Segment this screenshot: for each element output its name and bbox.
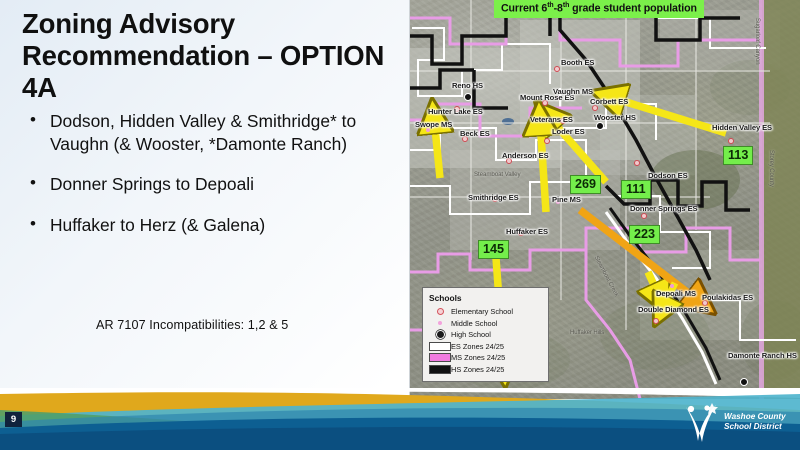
marker-wooster-hs [596, 122, 604, 130]
legend-row-high: High School [429, 329, 542, 341]
label-hunter-lake-es: Hunter Lake ES [428, 108, 483, 116]
slide-footer: 9 Washoe County School District [0, 388, 800, 450]
logo-line-1: Washoe County [724, 412, 786, 422]
marker-veterans-es [544, 138, 550, 144]
label-damonte-ranch-hs: Damonte Ranch HS [728, 352, 780, 360]
elementary-school-icon [429, 308, 451, 315]
zoning-map[interactable]: Current 6th-8th grade student population [409, 0, 800, 399]
footer-swoosh [0, 388, 800, 450]
legend-label-middle: Middle School [451, 319, 497, 328]
callout-223: 223 [629, 225, 660, 244]
bullet-item-1: Dodson, Hidden Valley & Smithridge* to V… [24, 110, 406, 155]
legend-row-hs-zones: HS Zones 24/25 [429, 364, 542, 376]
label-vaughn-ms: Vaughn MS [553, 88, 593, 96]
callout-145: 145 [478, 240, 509, 259]
legend-row-ms-zones: MS Zones 24/25 [429, 352, 542, 364]
wcsd-mark-icon [682, 401, 722, 443]
marker-dodson-es [634, 160, 640, 166]
legend-label-elementary: Elementary School [451, 307, 513, 316]
marker-damonte-ranch-hs [740, 378, 748, 386]
terrain-label-sugarloaf-canyon: Sugarloaf Canyon [754, 18, 760, 64]
legend-row-es-zones: ES Zones 24/25 [429, 341, 542, 353]
legend-row-elementary: Elementary School [429, 306, 542, 318]
footnote: AR 7107 Incompatibilities: 1,2 & 5 [96, 318, 288, 332]
legend-title: Schools [429, 293, 542, 303]
es-zone-line-icon [429, 342, 451, 351]
label-poulakidas-es: Poulakidas ES [702, 294, 753, 302]
marker-double-diamond-es [653, 318, 659, 324]
page-number: 9 [5, 412, 22, 427]
label-corbett-es: Corbett ES [590, 98, 628, 106]
slide: Zoning Advisory Recommendation – OPTION … [0, 0, 800, 450]
terrain-label-steamboat-valley: Steamboat Valley [474, 172, 520, 179]
terrain-label-huffaker-hills: Huffaker Hills [570, 330, 604, 336]
hs-zone-line-icon [429, 365, 451, 374]
label-loder-es: Loder ES [552, 128, 585, 136]
terrain-label-storey-county: Storey County [768, 150, 774, 187]
ms-zone-line-icon [429, 353, 451, 362]
marker-hidden-valley-es [728, 138, 734, 144]
label-wooster-hs: Wooster HS [594, 114, 636, 122]
label-booth-es: Booth ES [561, 59, 594, 67]
label-donner-springs-es: Donner Springs ES [630, 205, 684, 213]
washoe-county-school-district-logo: Washoe County School District [682, 398, 794, 446]
high-school-icon [429, 330, 451, 339]
arrow-center-up [540, 120, 546, 212]
legend-label-es-zones: ES Zones 24/25 [451, 342, 504, 351]
legend-label-high: High School [451, 330, 491, 339]
slide-content: Zoning Advisory Recommendation – OPTION … [0, 0, 412, 400]
label-smithridge-es: Smithridge ES [468, 194, 519, 202]
label-beck-es: Beck ES [460, 130, 490, 138]
marker-donner-springs-es [641, 213, 647, 219]
legend-label-ms-zones: MS Zones 24/25 [451, 353, 505, 362]
marker-booth-es [554, 66, 560, 72]
label-double-diamond-es: Double Diamond ES [638, 306, 686, 314]
label-hidden-valley-es: Hidden Valley ES [712, 124, 758, 132]
label-veterans-es: Veterans ES [530, 116, 573, 124]
label-reno-hs: Reno HS [452, 82, 483, 90]
label-depoali-ms: Depoali MS [656, 290, 696, 298]
legend-row-middle: Middle School [429, 318, 542, 330]
callout-269: 269 [570, 175, 601, 194]
label-huffaker-es: Huffaker ES [506, 228, 548, 236]
bullet-item-2: Donner Springs to Depoali [24, 173, 406, 196]
callout-113: 113 [723, 146, 753, 165]
callout-111: 111 [621, 180, 651, 199]
bullet-list: Dodson, Hidden Valley & Smithridge* to V… [24, 110, 406, 255]
logo-text: Washoe County School District [724, 412, 786, 432]
map-legend: Schools Elementary School Middle School … [422, 287, 549, 382]
label-dodson-es: Dodson ES [648, 172, 688, 180]
page-title: Zoning Advisory Recommendation – OPTION … [22, 8, 394, 104]
bullet-item-3: Huffaker to Herz (& Galena) [24, 214, 406, 237]
label-swope-ms: Swope MS [415, 121, 452, 129]
marker-reno-hs [464, 93, 472, 101]
label-pine-ms: Pine MS [552, 196, 581, 204]
middle-school-icon [429, 321, 451, 325]
label-anderson-es: Anderson ES [502, 152, 549, 160]
legend-label-hs-zones: HS Zones 24/25 [451, 365, 504, 374]
marker-depoali-ms [670, 284, 674, 288]
logo-line-2: School District [724, 422, 786, 432]
